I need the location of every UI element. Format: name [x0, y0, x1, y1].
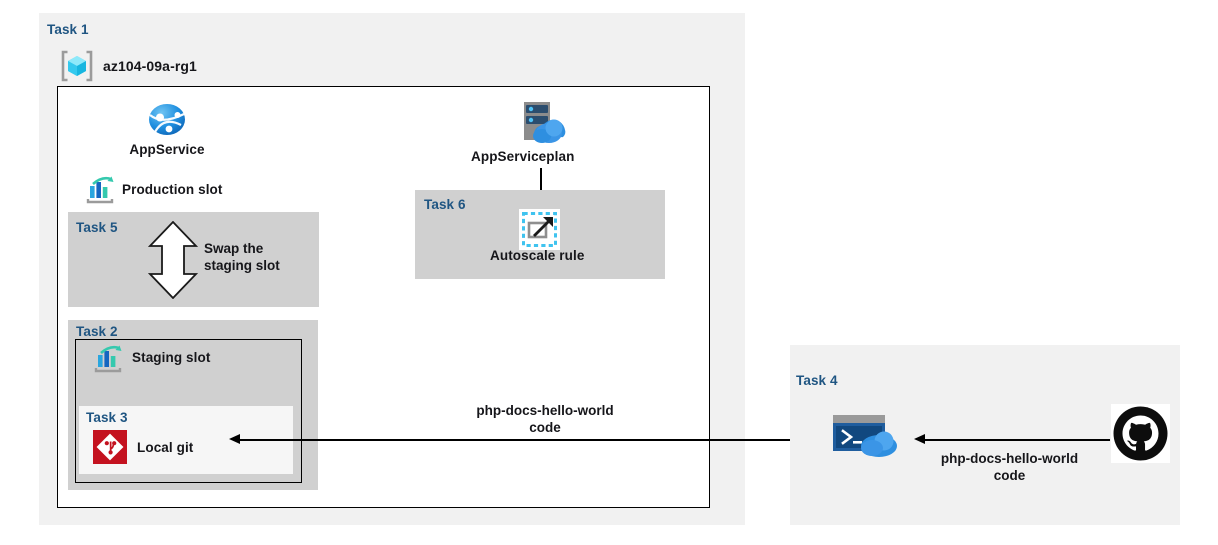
swap-double-arrow-icon — [147, 221, 199, 299]
task-6-label: Task 6 — [424, 197, 466, 212]
deployment-slot-icon — [93, 345, 123, 373]
code-label-center: php-docs-hello-world code — [440, 402, 650, 436]
autoscale-rule-label: Autoscale rule — [490, 248, 584, 263]
arrow-github-to-cloudshell-head — [914, 434, 925, 444]
staging-slot-label: Staging slot — [132, 350, 210, 365]
arrow-cloudshell-to-localgit-line — [240, 439, 818, 441]
github-octocat-icon — [1111, 404, 1170, 463]
task-4-label: Task 4 — [796, 373, 838, 388]
production-slot-label: Production slot — [122, 182, 223, 197]
task-1-label: Task 1 — [47, 22, 89, 37]
code-label-center-line-2: code — [440, 419, 650, 436]
deployment-slot-icon — [85, 176, 115, 204]
task-2-label: Task 2 — [76, 324, 118, 339]
arrow-cloudshell-to-localgit-head — [229, 434, 240, 444]
app-service-plan-label: AppServiceplan — [471, 149, 574, 164]
code-label-center-line-1: php-docs-hello-world — [440, 402, 650, 419]
diagram-canvas: Task 1 az104-09a-rg1 — [0, 0, 1218, 545]
app-service-label: AppService — [122, 142, 212, 157]
cloud-shell-icon — [831, 413, 899, 458]
swap-annotation: Swap the staging slot — [204, 240, 314, 274]
code-label-right-line-2: code — [912, 467, 1107, 484]
app-service-plan-icon — [512, 100, 570, 147]
task-5-label: Task 5 — [76, 220, 118, 235]
git-icon — [93, 430, 127, 464]
code-label-right-line-1: php-docs-hello-world — [912, 450, 1107, 467]
autoscale-icon — [519, 209, 560, 250]
code-label-right: php-docs-hello-world code — [912, 450, 1107, 484]
swap-line-1: Swap the — [204, 240, 314, 257]
arrow-github-to-cloudshell-line — [925, 439, 1110, 441]
resource-group-cube-icon — [60, 50, 94, 82]
local-git-label: Local git — [137, 440, 193, 455]
app-service-globe-icon — [148, 103, 186, 136]
swap-line-2: staging slot — [204, 257, 314, 274]
resource-group-label: az104-09a-rg1 — [103, 58, 197, 74]
task-3-label: Task 3 — [86, 410, 128, 425]
